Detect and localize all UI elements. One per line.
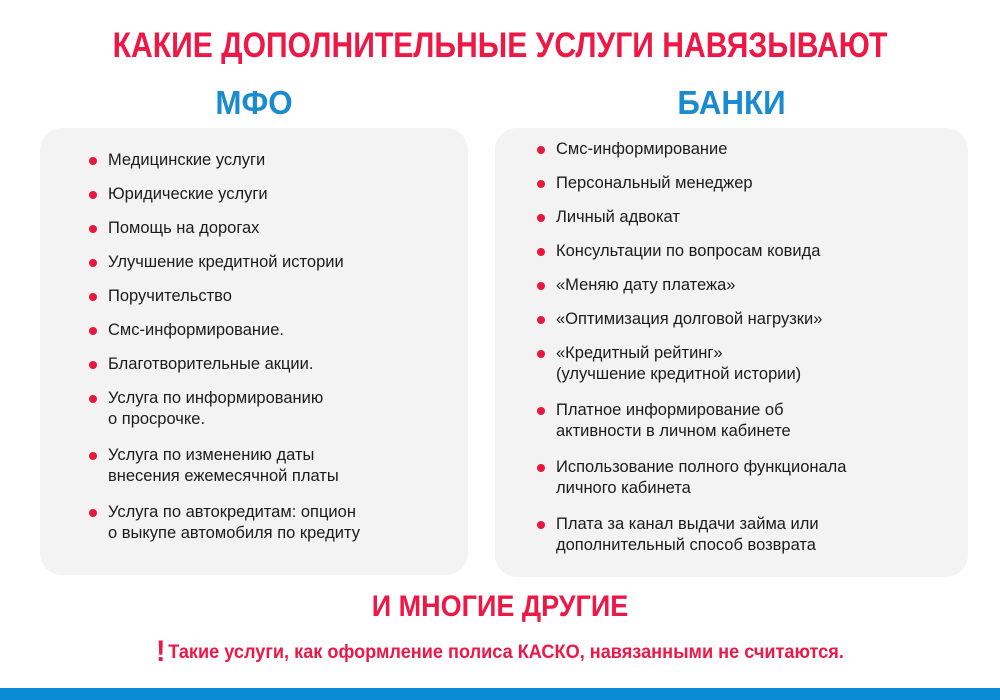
list-item: Медицинские услуги: [89, 150, 459, 171]
list-item-label: «Кредитный рейтинг» (улучшение кредитной…: [556, 343, 957, 385]
list-item-label: Юридические услуги: [108, 184, 459, 205]
bullet-icon: [537, 248, 545, 256]
list-item-label: Медицинские услуги: [108, 150, 459, 171]
footer-disclaimer-text: Такие услуги, как оформление полиса КАСК…: [168, 641, 844, 663]
bullet-icon: [89, 327, 97, 335]
bullet-icon: [89, 259, 97, 267]
list-item: Плата за канал выдачи займа или дополнит…: [537, 514, 957, 556]
list-item-label: Услуга по изменению даты внесения ежемес…: [108, 445, 459, 487]
footer-disclaimer: !Такие услуги, как оформление полиса КАС…: [35, 640, 965, 664]
services-list-mfo: Медицинские услугиЮридические услугиПомо…: [89, 150, 459, 559]
services-list-banks: Смс-информированиеПерсональный менеджерЛ…: [537, 139, 957, 571]
footer-heading: И МНОГИЕ ДРУГИЕ: [50, 590, 950, 624]
list-item: «Кредитный рейтинг» (улучшение кредитной…: [537, 343, 957, 385]
list-item: Платное информирование об активности в л…: [537, 400, 957, 442]
bullet-icon: [89, 293, 97, 301]
list-item-label: «Меняю дату платежа»: [556, 275, 957, 296]
services-card-mfo: Медицинские услугиЮридические услугиПомо…: [40, 128, 468, 575]
list-item-label: Платное информирование об активности в л…: [556, 400, 957, 442]
list-item-label: Благотворительные акции.: [108, 354, 459, 375]
list-item: Услуга по изменению даты внесения ежемес…: [89, 445, 459, 487]
bottom-accent-bar: [0, 688, 1000, 700]
list-item: «Меняю дату платежа»: [537, 275, 957, 296]
bullet-icon: [537, 464, 545, 472]
list-item-label: Использование полного функционала личног…: [556, 457, 957, 499]
column-header-mfo: МФО: [51, 84, 458, 122]
list-item: Личный адвокат: [537, 207, 957, 228]
bullet-icon: [89, 509, 97, 517]
list-item-label: Смс-информирование: [556, 139, 957, 160]
list-item: Улучшение кредитной истории: [89, 252, 459, 273]
list-item-label: Услуга по информированию о просрочке.: [108, 388, 459, 430]
bullet-icon: [89, 191, 97, 199]
list-item: Персональный менеджер: [537, 173, 957, 194]
list-item-label: «Оптимизация долговой нагрузки»: [556, 309, 957, 330]
list-item: Благотворительные акции.: [89, 354, 459, 375]
bullet-icon: [89, 452, 97, 460]
bullet-icon: [537, 180, 545, 188]
bullet-icon: [89, 395, 97, 403]
list-item: Смс-информирование.: [89, 320, 459, 341]
list-item-label: Смс-информирование.: [108, 320, 459, 341]
bullet-icon: [537, 146, 545, 154]
bullet-icon: [537, 214, 545, 222]
exclamation-icon: !: [156, 635, 165, 668]
bullet-icon: [537, 407, 545, 415]
list-item: «Оптимизация долговой нагрузки»: [537, 309, 957, 330]
list-item: Использование полного функционала личног…: [537, 457, 957, 499]
bullet-icon: [537, 282, 545, 290]
list-item: Консультации по вопросам ковида: [537, 241, 957, 262]
list-item-label: Плата за канал выдачи займа или дополнит…: [556, 514, 957, 556]
bullet-icon: [89, 157, 97, 165]
column-header-banks: БАНКИ: [507, 84, 956, 122]
list-item-label: Персональный менеджер: [556, 173, 957, 194]
list-item: Юридические услуги: [89, 184, 459, 205]
list-item: Помощь на дорогах: [89, 218, 459, 239]
list-item-label: Услуга по автокредитам: опцион о выкупе …: [108, 502, 459, 544]
list-item: Поручительство: [89, 286, 459, 307]
services-card-banks: Смс-информированиеПерсональный менеджерЛ…: [495, 128, 968, 577]
bullet-icon: [537, 521, 545, 529]
list-item-label: Помощь на дорогах: [108, 218, 459, 239]
list-item: Смс-информирование: [537, 139, 957, 160]
bullet-icon: [89, 225, 97, 233]
list-item-label: Поручительство: [108, 286, 459, 307]
bullet-icon: [89, 361, 97, 369]
list-item: Услуга по автокредитам: опцион о выкупе …: [89, 502, 459, 544]
list-item-label: Улучшение кредитной истории: [108, 252, 459, 273]
page-title: КАКИЕ ДОПОЛНИТЕЛЬНЫЕ УСЛУГИ НАВЯЗЫВАЮТ: [70, 26, 930, 66]
infographic-poster: КАКИЕ ДОПОЛНИТЕЛЬНЫЕ УСЛУГИ НАВЯЗЫВАЮТ М…: [0, 0, 1000, 700]
bullet-icon: [537, 350, 545, 358]
list-item-label: Личный адвокат: [556, 207, 957, 228]
list-item-label: Консультации по вопросам ковида: [556, 241, 957, 262]
list-item: Услуга по информированию о просрочке.: [89, 388, 459, 430]
bullet-icon: [537, 316, 545, 324]
